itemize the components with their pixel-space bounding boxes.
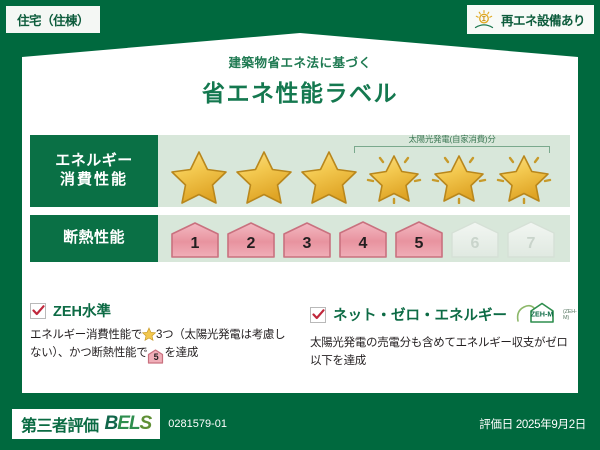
dwelling-type-chip: 住宅（住棟） bbox=[6, 6, 100, 33]
renewable-badge-label: 再エネ設備あり bbox=[501, 10, 585, 29]
label-title: 省エネ性能ラベル bbox=[0, 74, 600, 108]
criterion-zeh: ZEH水準 エネルギー消費性能で3つ（太陽光発電は考慮しない）、かつ断熱性能で5… bbox=[30, 300, 292, 371]
criterion-net-zero-body: 太陽光発電の売電分も含めてエネルギー収支がゼロ以下を達成 bbox=[310, 335, 572, 371]
zeh-m-logo-caption: (ZEH-M) bbox=[563, 309, 577, 321]
grade-house-inline-number: 5 bbox=[154, 352, 159, 362]
bels-logo: 第三者評価 BELS bbox=[12, 409, 160, 439]
dwelling-type-label: 住宅（住棟） bbox=[17, 10, 89, 29]
footer-bar: 第三者評価 BELS 0281579-01 評価日 2025年9月2日 bbox=[0, 398, 600, 450]
criteria-section: ZEH水準 エネルギー消費性能で3つ（太陽光発電は考慮しない）、かつ断熱性能で5… bbox=[30, 300, 575, 371]
energy-label-line2: 消費性能 bbox=[60, 171, 128, 190]
bels-en-label: BELS bbox=[105, 413, 152, 435]
zeh-checkbox[interactable] bbox=[30, 303, 46, 319]
bels-letter-b: B bbox=[105, 413, 118, 434]
evaluation-date-value: 2025年9月2日 bbox=[516, 419, 586, 431]
star-icon-solar bbox=[493, 146, 555, 204]
insulation-performance-row: 断熱性能 1 2 bbox=[30, 215, 570, 262]
grade-number: 5 bbox=[415, 236, 424, 258]
zeh-body-part1: エネルギー消費性能で bbox=[30, 329, 142, 341]
energy-performance-label: 住宅（住棟） 再エネ設備あり 建築物省エネ法に基づく 省エネ性能ラベル bbox=[0, 0, 600, 450]
insulation-label-text: 断熱性能 bbox=[63, 229, 125, 248]
net-zero-checkbox[interactable] bbox=[310, 307, 326, 323]
grade-scale: 1 2 3 4 5 bbox=[168, 220, 558, 258]
grade-number: 2 bbox=[247, 236, 256, 258]
check-icon bbox=[32, 304, 45, 317]
zeh-m-logo-icon: ZEH-M bbox=[515, 300, 555, 329]
insulation-grades-area: 1 2 3 4 5 bbox=[158, 215, 570, 262]
bels-letter-l: L bbox=[129, 413, 140, 434]
criterion-net-zero-header: ネット・ゼロ・エネルギー ZEH-M (ZEH-M) bbox=[310, 300, 572, 329]
bels-letter-s: S bbox=[140, 413, 152, 434]
label-heading: 建築物省エネ法に基づく 省エネ性能ラベル bbox=[0, 52, 600, 108]
energy-stars-area: 太陽光発電(自家消費)分 bbox=[158, 135, 570, 207]
star-icon bbox=[298, 146, 360, 204]
grade-number: 4 bbox=[359, 236, 368, 258]
energy-performance-label: エネルギー 消費性能 bbox=[30, 135, 158, 207]
criterion-net-zero-title: ネット・ゼロ・エネルギー bbox=[333, 304, 507, 325]
criterion-net-zero: ネット・ゼロ・エネルギー ZEH-M (ZEH-M) 太陽光発電の売電分も含めて… bbox=[310, 300, 572, 371]
star-icon bbox=[233, 146, 295, 204]
grade-number: 7 bbox=[527, 236, 536, 258]
check-icon bbox=[312, 308, 325, 321]
solar-annotation: 太陽光発電(自家消費)分 bbox=[354, 133, 550, 153]
solar-bracket bbox=[354, 146, 550, 153]
energy-performance-row: エネルギー 消費性能 太陽光発電(自家消費)分 bbox=[30, 135, 570, 207]
solar-annotation-label: 太陽光発電(自家消費)分 bbox=[354, 133, 550, 145]
label-subtitle: 建築物省エネ法に基づく bbox=[0, 52, 600, 71]
criterion-zeh-body: エネルギー消費性能で3つ（太陽光発電は考慮しない）、かつ断熱性能で5を達成 bbox=[30, 327, 292, 364]
evaluation-date: 評価日 2025年9月2日 bbox=[479, 416, 586, 432]
grade-number: 3 bbox=[303, 236, 312, 258]
grade-house-6: 6 bbox=[448, 220, 502, 258]
grade-number: 1 bbox=[191, 236, 200, 258]
solar-sun-icon bbox=[472, 9, 496, 31]
svg-text:ZEH-M: ZEH-M bbox=[531, 310, 554, 319]
bels-jp-label: 第三者評価 bbox=[21, 412, 99, 436]
grade-house-3: 3 bbox=[280, 220, 334, 258]
grade-house-2: 2 bbox=[224, 220, 278, 258]
renewable-equipment-badge: 再エネ設備あり bbox=[467, 5, 594, 34]
bels-letter-e: E bbox=[117, 413, 129, 434]
grade-house-4: 4 bbox=[336, 220, 390, 258]
star-icon-inline bbox=[142, 327, 156, 341]
star-rating bbox=[168, 146, 555, 204]
insulation-performance-label: 断熱性能 bbox=[30, 215, 158, 262]
grade-house-5: 5 bbox=[392, 220, 446, 258]
zeh-body-part3: を達成 bbox=[164, 347, 198, 359]
energy-label-line1: エネルギー bbox=[55, 152, 133, 171]
grade-house-7: 7 bbox=[504, 220, 558, 258]
star-icon-solar bbox=[363, 146, 425, 204]
criterion-zeh-title: ZEH水準 bbox=[53, 300, 111, 321]
criterion-zeh-header: ZEH水準 bbox=[30, 300, 292, 321]
grade-house-inline: 5 bbox=[147, 349, 164, 364]
star-icon-solar bbox=[428, 146, 490, 204]
metrics-container: エネルギー 消費性能 太陽光発電(自家消費)分 bbox=[30, 135, 570, 270]
evaluation-date-label: 評価日 bbox=[479, 419, 513, 431]
certificate-number: 0281579-01 bbox=[168, 418, 227, 430]
grade-house-1: 1 bbox=[168, 220, 222, 258]
star-icon bbox=[168, 146, 230, 204]
grade-number: 6 bbox=[471, 236, 480, 258]
